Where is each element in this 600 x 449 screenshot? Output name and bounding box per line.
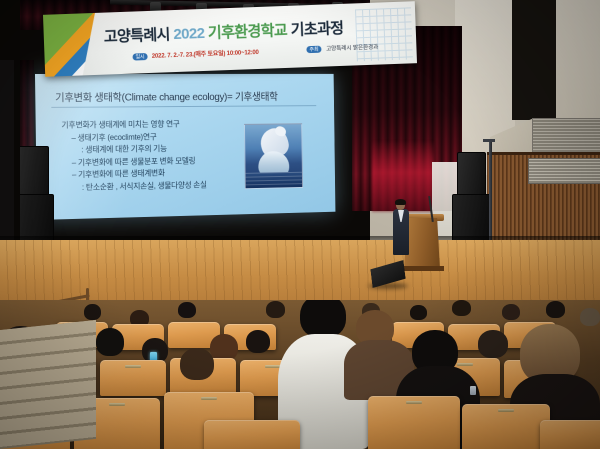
speaker-pole-arm — [483, 139, 495, 142]
attendee-head-foreground — [180, 348, 214, 380]
schedule-pill: 일시 — [132, 53, 147, 61]
podium-base — [400, 266, 444, 271]
banner-program: 기후환경학교 — [208, 22, 288, 42]
attendee-head — [266, 301, 285, 318]
seat-number-plate — [109, 403, 125, 406]
ocean-water — [246, 172, 302, 188]
seat[interactable] — [100, 360, 166, 396]
attendee-head — [246, 330, 270, 353]
attendee-head — [178, 302, 196, 318]
banner-year: 2022 — [173, 25, 205, 43]
attendee-head — [580, 308, 600, 326]
seat[interactable] — [368, 396, 460, 449]
projection-screen: 기후변화 생태학(Climate change ecology)= 기후생태학 … — [35, 74, 335, 220]
slide-bullet: : 탄소순환 , 서식지손실, 생물다양성 손실 — [82, 178, 243, 194]
attendee-head — [96, 328, 124, 356]
seat[interactable] — [204, 420, 300, 449]
seat-number-plate — [406, 401, 422, 404]
presenter-hair — [395, 199, 406, 205]
pa-speaker-right-top — [457, 152, 486, 196]
city-emblem-icon — [43, 13, 97, 77]
podium — [404, 218, 440, 270]
attendee-head — [84, 304, 101, 320]
banner-city: 고양특례시 — [104, 26, 171, 45]
attendee-head — [502, 304, 520, 320]
seat-number-plate — [201, 397, 217, 400]
pa-speaker-left-top — [17, 146, 49, 196]
slide-title-rule — [51, 105, 316, 108]
attendee-head — [410, 305, 427, 320]
smartphone — [470, 386, 476, 395]
presenter — [393, 200, 409, 258]
wall-recess-dark — [512, 0, 562, 120]
attendee-head — [452, 300, 471, 316]
attendee-head-foreground — [300, 300, 346, 338]
slide-image-polar-bear — [244, 123, 303, 189]
attendee-head — [478, 330, 508, 358]
seat[interactable] — [462, 404, 550, 449]
attendee-head — [210, 334, 238, 361]
seat-number-plate — [498, 409, 514, 412]
auditorium-photo: 기후변화 생태학(Climate change ecology)= 기후생태학 … — [0, 0, 600, 449]
slide-body: 기후변화가 생태계에 미치는 영향 연구 – 생태기후 (ecoclimte)연… — [61, 118, 243, 194]
seat-number-plate — [457, 363, 473, 366]
seat[interactable] — [540, 420, 600, 449]
aisle-steps — [0, 320, 96, 449]
slide-title: 기후변화 생태학(Climate change ecology)= 기후생태학 — [55, 89, 327, 105]
seat-number-plate — [125, 365, 141, 368]
organizer-pill: 주최 — [306, 46, 321, 54]
schedule-text: 2022. 7. 2.-7. 23.(매주 토요일) 10:00~12:00 — [152, 50, 259, 60]
air-vent-grille — [528, 158, 600, 184]
attendee-head — [546, 301, 565, 318]
banner-level: 기초과정 — [290, 20, 343, 39]
